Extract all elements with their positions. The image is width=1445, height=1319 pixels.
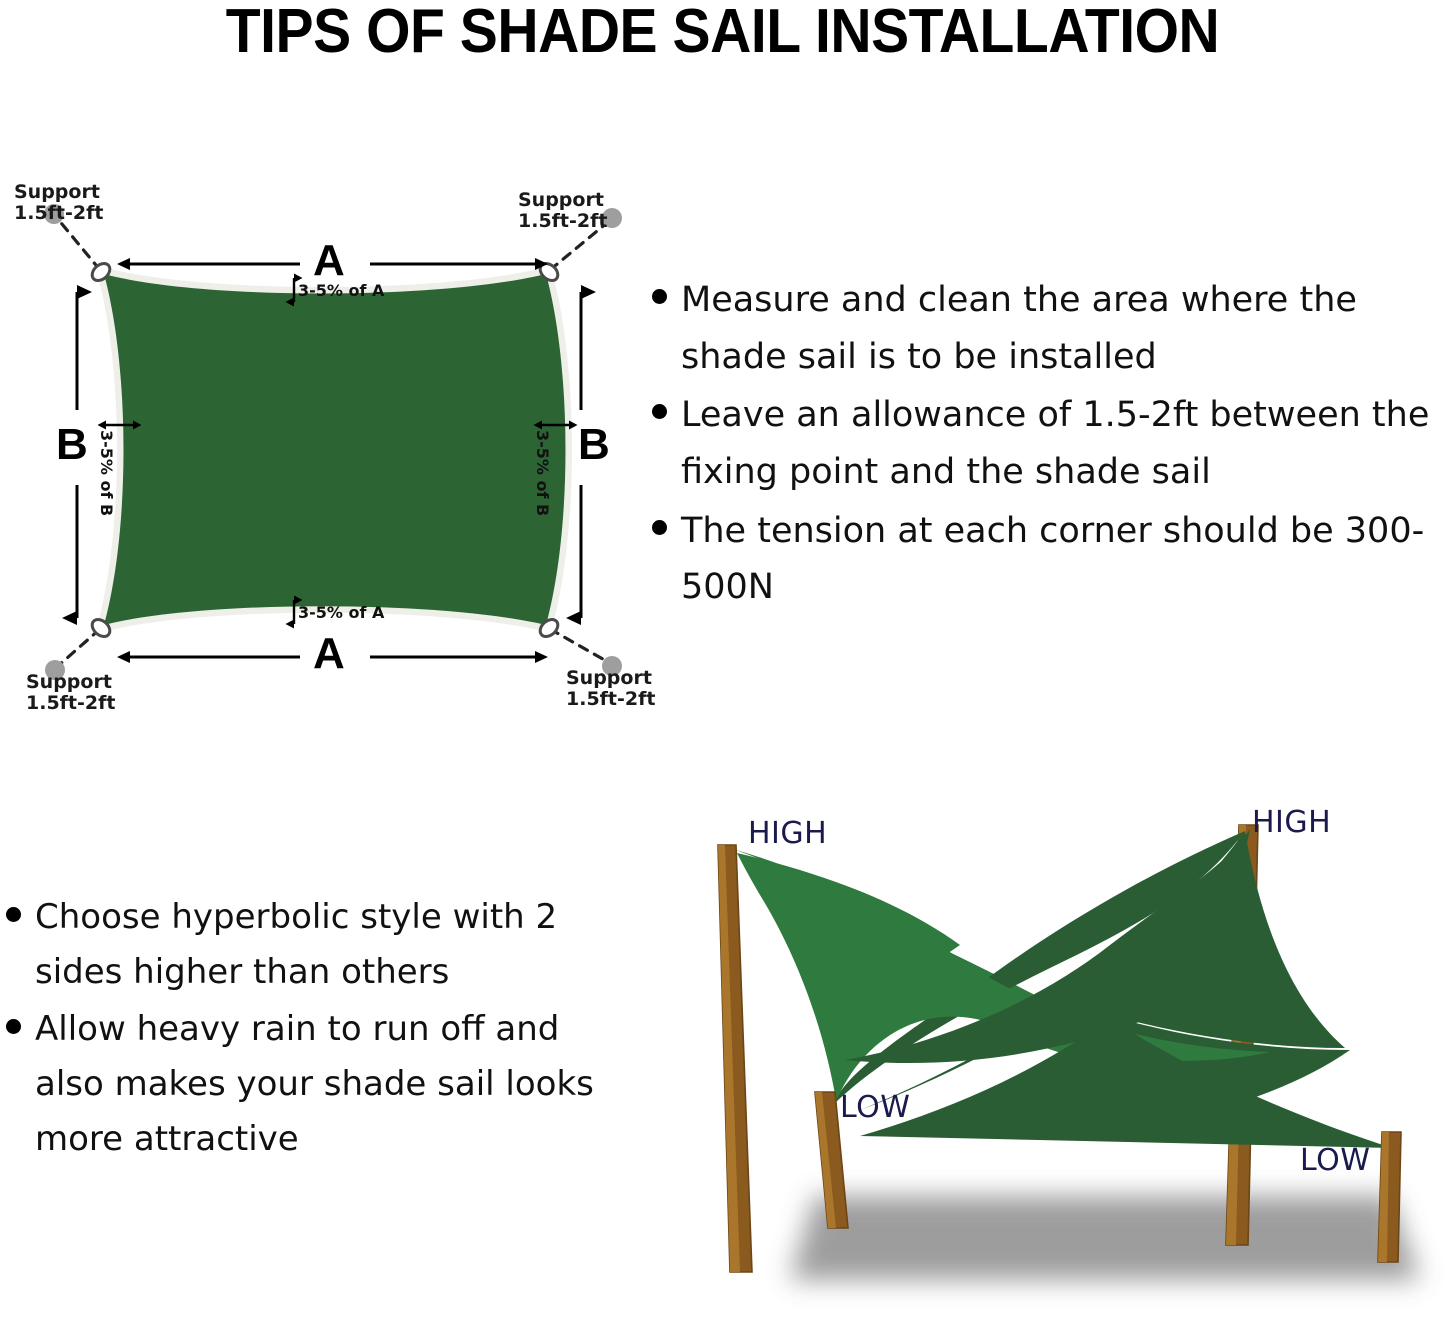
- ground-shadow: [790, 1196, 1420, 1280]
- label-high-left: HIGH: [748, 816, 827, 851]
- support-post-front-right: [1378, 1132, 1401, 1262]
- label-low-left: LOW: [840, 1090, 910, 1125]
- label-low-right: LOW: [1300, 1143, 1370, 1178]
- support-post-back-left: [718, 845, 752, 1272]
- hyperbolic-sail-svg: [0, 0, 1445, 1319]
- label-high-right: HIGH: [1252, 805, 1331, 840]
- infographic-page: TIPS OF SHADE SAIL INSTALLATION: [0, 0, 1445, 1319]
